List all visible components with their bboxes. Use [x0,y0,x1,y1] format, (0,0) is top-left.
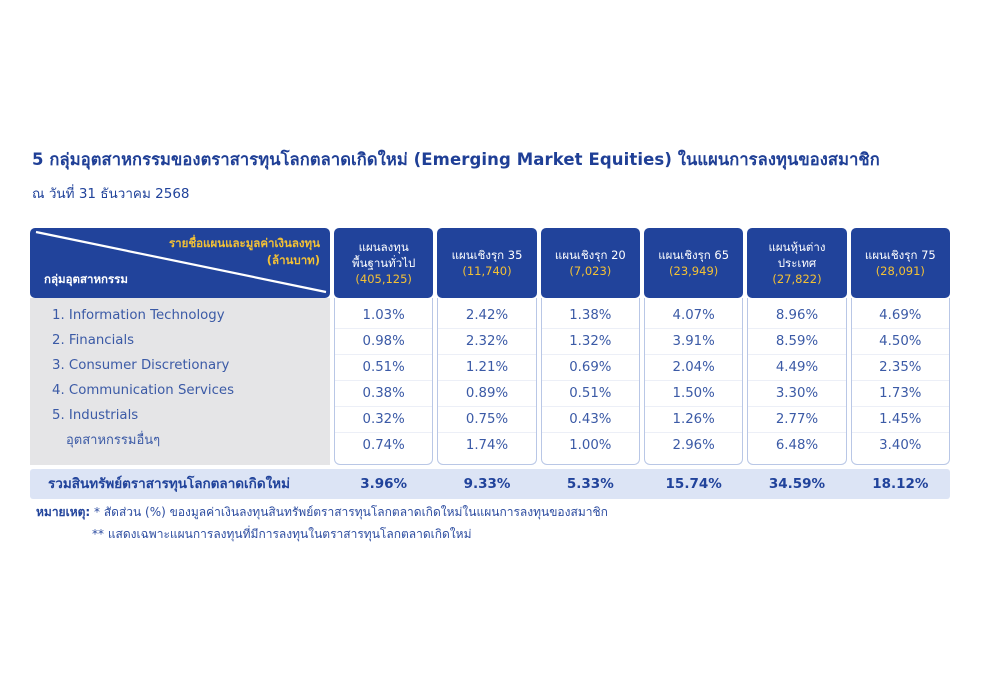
data-column-1: 2.42% 2.32% 1.21% 0.89% 0.75% 1.74% [437,298,536,465]
cell-r4-c4: 2.77% [748,407,845,433]
cell-r0-c4: 8.96% [748,303,845,329]
summary-label: รวมสินทรัพย์ตราสารทุนโลกตลาดเกิดใหม่ [30,469,330,499]
cell-r2-c0: 0.51% [335,355,432,381]
cell-r3-c1: 0.89% [438,381,535,407]
column-header-0: แผนลงทุน พื้นฐานทั่วไป (405,125) [334,228,433,298]
data-column-2: 1.38% 1.32% 0.69% 0.51% 0.43% 1.00% [541,298,640,465]
summary-row: รวมสินทรัพย์ตราสารทุนโลกตลาดเกิดใหม่ 3.9… [30,469,950,499]
table-header-row: รายชื่อแผนและมูลค่าเงินลงทุน (ล้านบาท) ก… [30,228,950,298]
cell-r4-c1: 0.75% [438,407,535,433]
cell-r4-c5: 1.45% [852,407,949,433]
cell-r3-c0: 0.38% [335,381,432,407]
cell-r5-c3: 2.96% [645,433,742,458]
data-column-4: 8.96% 8.59% 4.49% 3.30% 2.77% 6.48% [747,298,846,465]
data-column-3: 4.07% 3.91% 2.04% 1.50% 1.26% 2.96% [644,298,743,465]
cell-r1-c1: 2.32% [438,329,535,355]
cell-r2-c5: 2.35% [852,355,949,381]
column-header-2: แผนเชิงรุก 20 (7,023) [541,228,640,298]
column-header-4-line1: แผนหุ้นต่างประเทศ [749,239,844,272]
cell-r0-c2: 1.38% [542,303,639,329]
cell-r4-c2: 0.43% [542,407,639,433]
cell-r0-c5: 4.69% [852,303,949,329]
cell-r2-c3: 2.04% [645,355,742,381]
cell-r2-c2: 0.69% [542,355,639,381]
cell-r3-c4: 3.30% [748,381,845,407]
cell-r5-c4: 6.48% [748,433,845,458]
cell-r2-c4: 4.49% [748,355,845,381]
column-header-0-amount: (405,125) [355,271,412,287]
page-subtitle: ณ วันที่ 31 ธันวาคม 2568 [32,182,190,204]
row-label-2: 3. Consumer Discretionary [30,353,330,378]
column-header-5-line1: แผนเชิงรุก 75 [865,247,936,263]
cell-r5-c5: 3.40% [852,433,949,458]
cell-r1-c5: 4.50% [852,329,949,355]
footnote-line-1: หมายเหตุ: * สัดส่วน (%) ของมูลค่าเงินลงท… [36,501,608,523]
column-header-0-line2: พื้นฐานทั่วไป [352,255,415,271]
cell-r1-c2: 1.32% [542,329,639,355]
column-header-1: แผนเชิงรุก 35 (11,740) [437,228,536,298]
column-header-3: แผนเชิงรุก 65 (23,949) [644,228,743,298]
page-root: 5 กลุ่มอุตสาหกรรมของตราสารทุนโลกตลาดเกิด… [0,0,1000,700]
summary-value-4: 34.59% [747,469,846,499]
column-header-3-amount: (23,949) [669,263,718,279]
header-corner-unit-text: (ล้านบาท) [169,252,320,269]
summary-value-5: 18.12% [851,469,950,499]
header-corner-top-label: รายชื่อแผนและมูลค่าเงินลงทุน (ล้านบาท) [169,235,320,268]
footnotes: หมายเหตุ: * สัดส่วน (%) ของมูลค่าเงินลงท… [36,501,608,545]
summary-value-1: 9.33% [437,469,536,499]
cell-r5-c1: 1.74% [438,433,535,458]
column-header-2-amount: (7,023) [569,263,611,279]
cell-r1-c3: 3.91% [645,329,742,355]
table-body: 1. Information Technology 2. Financials … [30,298,950,465]
column-header-1-amount: (11,740) [462,263,511,279]
data-table: รายชื่อแผนและมูลค่าเงินลงทุน (ล้านบาท) ก… [30,228,950,499]
header-corner-bottom-label: กลุ่มอุตสาหกรรม [44,271,128,289]
industry-name-column: 1. Information Technology 2. Financials … [30,298,330,465]
column-header-2-line1: แผนเชิงรุก 20 [555,247,626,263]
cell-r3-c3: 1.50% [645,381,742,407]
cell-r2-c1: 1.21% [438,355,535,381]
page-title: 5 กลุ่มอุตสาหกรรมของตราสารทุนโลกตลาดเกิด… [32,147,972,173]
row-label-4: 5. Industrials [30,403,330,428]
cell-r1-c0: 0.98% [335,329,432,355]
cell-r4-c3: 1.26% [645,407,742,433]
column-header-5-amount: (28,091) [876,263,925,279]
column-header-1-line1: แผนเชิงรุก 35 [452,247,523,263]
row-label-3: 4. Communication Services [30,378,330,403]
data-column-0: 1.03% 0.98% 0.51% 0.38% 0.32% 0.74% [334,298,433,465]
footnote-line-2: ** แสดงเฉพาะแผนการลงทุนที่มีการลงทุนในตร… [36,523,608,545]
cell-r5-c0: 0.74% [335,433,432,458]
cell-r3-c2: 0.51% [542,381,639,407]
row-label-1: 2. Financials [30,328,330,353]
column-header-0-line1: แผนลงทุน [359,239,409,255]
row-label-5: อุตสาหกรรมอื่นๆ [30,428,330,453]
cell-r5-c2: 1.00% [542,433,639,458]
summary-value-2: 5.33% [541,469,640,499]
footnote-text-1: * สัดส่วน (%) ของมูลค่าเงินลงทุนสินทรัพย… [94,505,608,519]
header-corner-top-text: รายชื่อแผนและมูลค่าเงินลงทุน [169,235,320,252]
cell-r4-c0: 0.32% [335,407,432,433]
cell-r0-c1: 2.42% [438,303,535,329]
column-header-3-line1: แผนเชิงรุก 65 [658,247,729,263]
column-header-5: แผนเชิงรุก 75 (28,091) [851,228,950,298]
data-column-5: 4.69% 4.50% 2.35% 1.73% 1.45% 3.40% [851,298,950,465]
footnote-lead: หมายเหตุ: [36,505,90,519]
column-header-4: แผนหุ้นต่างประเทศ (27,822) [747,228,846,298]
header-corner-cell: รายชื่อแผนและมูลค่าเงินลงทุน (ล้านบาท) ก… [30,228,330,298]
cell-r3-c5: 1.73% [852,381,949,407]
cell-r0-c0: 1.03% [335,303,432,329]
column-header-4-amount: (27,822) [772,271,821,287]
cell-r0-c3: 4.07% [645,303,742,329]
summary-value-0: 3.96% [334,469,433,499]
cell-r1-c4: 8.59% [748,329,845,355]
summary-value-3: 15.74% [644,469,743,499]
row-label-0: 1. Information Technology [30,303,330,328]
